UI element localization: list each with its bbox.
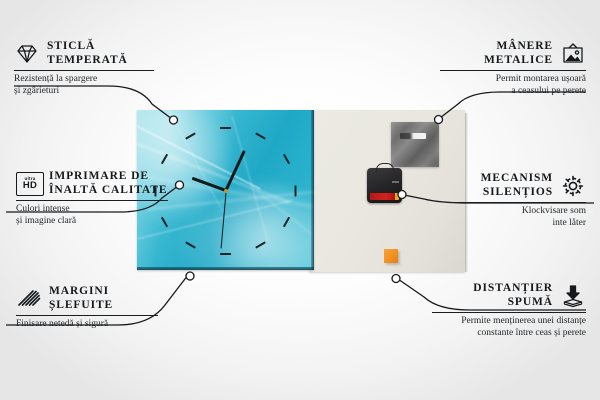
clock-tick	[220, 127, 231, 129]
callout-margini-slefuite: MARGINI ȘLEFUITE Finisare netedă și sigu…	[16, 285, 158, 331]
ultra-hd-icon-large-label: HD	[23, 181, 37, 191]
callout-subtitle: Finisare netedă și sigură	[16, 319, 158, 331]
clock-tick	[255, 132, 266, 139]
callout-title: DISTANȚIER SPUMĂ	[473, 282, 553, 309]
gear-icon	[560, 174, 586, 198]
clock-tick	[220, 253, 231, 255]
arrow-down-onto-pad-icon	[560, 284, 586, 308]
callout-divider	[448, 202, 586, 203]
callout-header: MÂNERE METALICE	[440, 40, 586, 67]
metal-hanger-plate	[391, 122, 439, 167]
callout-divider	[440, 70, 586, 71]
callout-header: DISTANȚIER SPUMĂ	[432, 282, 586, 309]
clock-center-pin	[224, 189, 228, 193]
clock-tick	[282, 154, 289, 165]
callout-imprimare-hd: ultra HD IMPRIMARE DE ÎNALTĂ CALITATE Cu…	[16, 170, 168, 227]
callout-header: MECANISM SILENȚIOS	[448, 172, 586, 199]
callout-header: MARGINI ȘLEFUITE	[16, 285, 158, 312]
callout-subtitle: Culori intense și imagine clară	[16, 204, 168, 227]
callout-subtitle: Klockvisare som inte låter	[448, 206, 586, 229]
glass-bottom-edge	[137, 267, 314, 270]
callout-sticla-temperata: STICLĂ TEMPERATĂ Rezistență la spargere …	[14, 40, 154, 97]
callout-divider	[14, 70, 154, 71]
callout-subtitle: Permite menținerea unei distanțe constan…	[432, 316, 586, 339]
ultra-hd-icon: ultra HD	[16, 172, 42, 196]
callout-header: STICLĂ TEMPERATĂ	[14, 40, 154, 67]
clock-back-panel	[309, 110, 465, 272]
hanger-slot	[400, 133, 426, 139]
clock-tick	[185, 241, 196, 248]
callout-manere-metalice: MÂNERE METALICE Permit montarea ușoară a…	[440, 40, 586, 97]
callout-divider	[432, 312, 586, 313]
quartz-movement	[367, 168, 402, 203]
orange-foam-spacer	[384, 249, 398, 263]
clock-tick	[295, 185, 297, 196]
infographic-canvas: STICLĂ TEMPERATĂ Rezistență la spargere …	[0, 0, 600, 400]
callout-header: ultra HD IMPRIMARE DE ÎNALTĂ CALITATE	[16, 170, 168, 197]
glass-right-edge	[311, 110, 314, 270]
callout-title: MÂNERE METALICE	[484, 40, 553, 67]
callout-divider	[16, 200, 168, 201]
callout-divider	[16, 315, 158, 316]
picture-hanger-icon	[560, 42, 586, 66]
callout-title: MECANISM SILENȚIOS	[481, 172, 553, 199]
diamond-icon	[14, 42, 40, 66]
callout-subtitle: Rezistență la spargere și zgârieturi	[14, 74, 154, 97]
leader-dot-distantier	[392, 275, 400, 283]
movement-label	[392, 181, 399, 183]
movement-bail	[376, 163, 394, 172]
callout-title: IMPRIMARE DE ÎNALTĂ CALITATE	[49, 170, 167, 197]
polished-edge-icon	[16, 287, 42, 311]
callout-mecanism-silentios: MECANISM SILENȚIOS Klockvisare som inte …	[448, 172, 586, 229]
callout-title: STICLĂ TEMPERATĂ	[47, 40, 128, 67]
callout-subtitle: Permit montarea ușoară a ceasului pe per…	[440, 74, 586, 97]
callout-title: MARGINI ȘLEFUITE	[49, 285, 113, 312]
battery-aa	[370, 193, 399, 200]
product-image-group	[137, 110, 465, 275]
callout-distantier-spuma: DISTANȚIER SPUMĂ Permite menținerea unei…	[432, 282, 586, 339]
